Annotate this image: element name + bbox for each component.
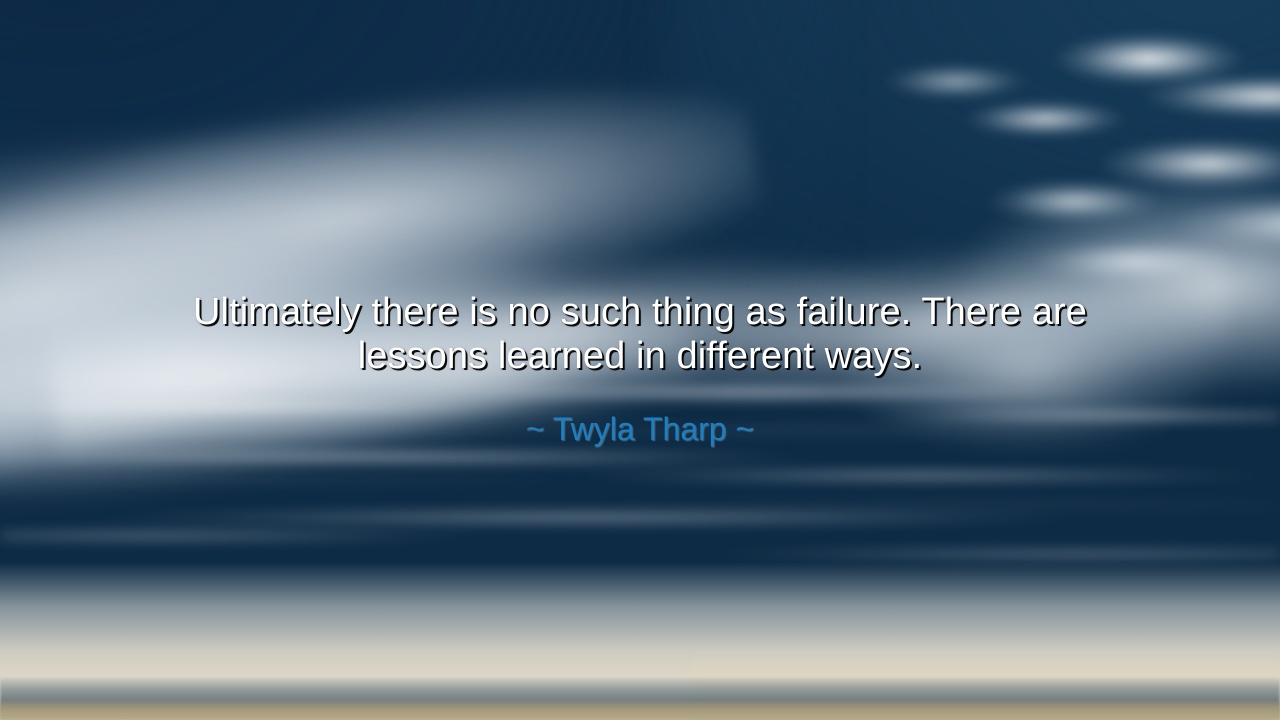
quote-image-canvas: Ultimately there is no such thing as fai… bbox=[0, 0, 1280, 720]
quote-author: ~ Twyla Tharp ~ bbox=[526, 410, 754, 448]
quote-overlay: Ultimately there is no such thing as fai… bbox=[0, 0, 1280, 720]
quote-text: Ultimately there is no such thing as fai… bbox=[160, 290, 1120, 378]
